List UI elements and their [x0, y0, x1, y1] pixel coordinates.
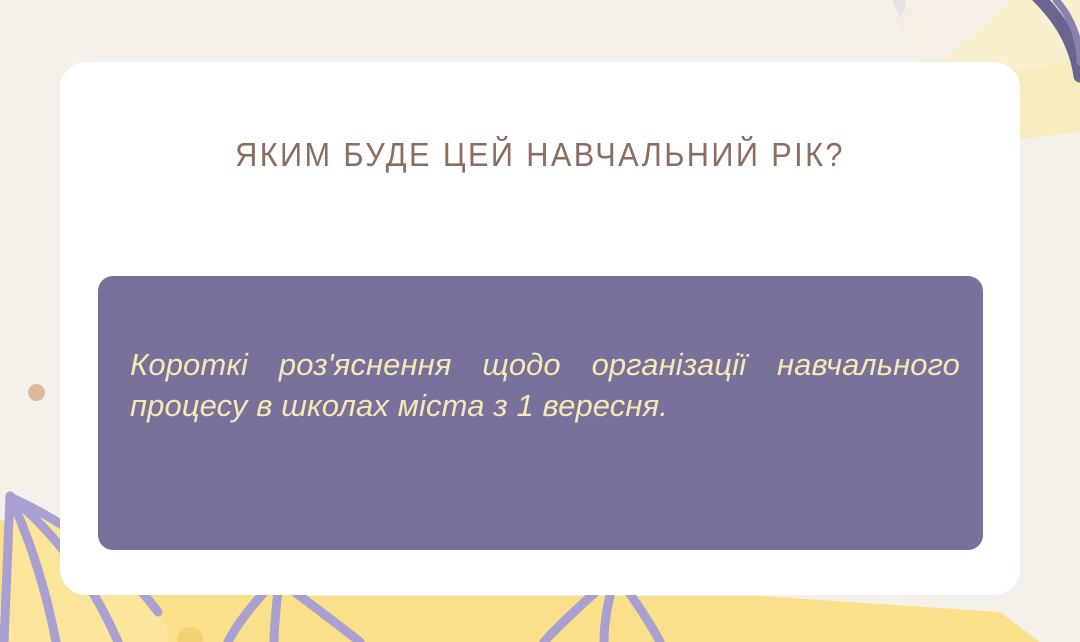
beige-dot-decoration — [28, 384, 45, 401]
purple-stem-9 — [626, 588, 660, 642]
bottom-centre-dot-shape — [177, 627, 203, 642]
page-title: ЯКИМ БУДЕ ЦЕЙ НАВЧАЛЬНИЙ РІК? — [94, 136, 987, 174]
top-purple-leaf-shape — [891, 0, 906, 18]
bottom-right-purple-stems-group — [544, 588, 660, 642]
callout-box: Короткі роз'яснення щодо організації нав… — [98, 276, 983, 550]
slide-canvas: ЯКИМ БУДЕ ЦЕЙ НАВЧАЛЬНИЙ РІК? Короткі ро… — [0, 0, 1080, 642]
top-right-purple-arc-secondary-shape — [1056, 0, 1080, 62]
callout-text: Короткі роз'яснення щодо організації нав… — [130, 344, 960, 426]
purple-stem-7 — [292, 590, 360, 642]
purple-stem-10 — [544, 588, 600, 642]
purple-stem-2 — [10, 496, 56, 642]
purple-stem-1 — [4, 496, 10, 642]
purple-stem-8 — [604, 588, 612, 642]
bottom-centre-purple-stems-group — [228, 590, 360, 642]
content-card: ЯКИМ БУДЕ ЦЕЙ НАВЧАЛЬНИЙ РІК? Короткі ро… — [60, 62, 1020, 595]
purple-stem-6 — [274, 590, 278, 642]
purple-stem-5 — [228, 590, 266, 642]
top-right-purple-arc-shape — [1022, 0, 1080, 76]
